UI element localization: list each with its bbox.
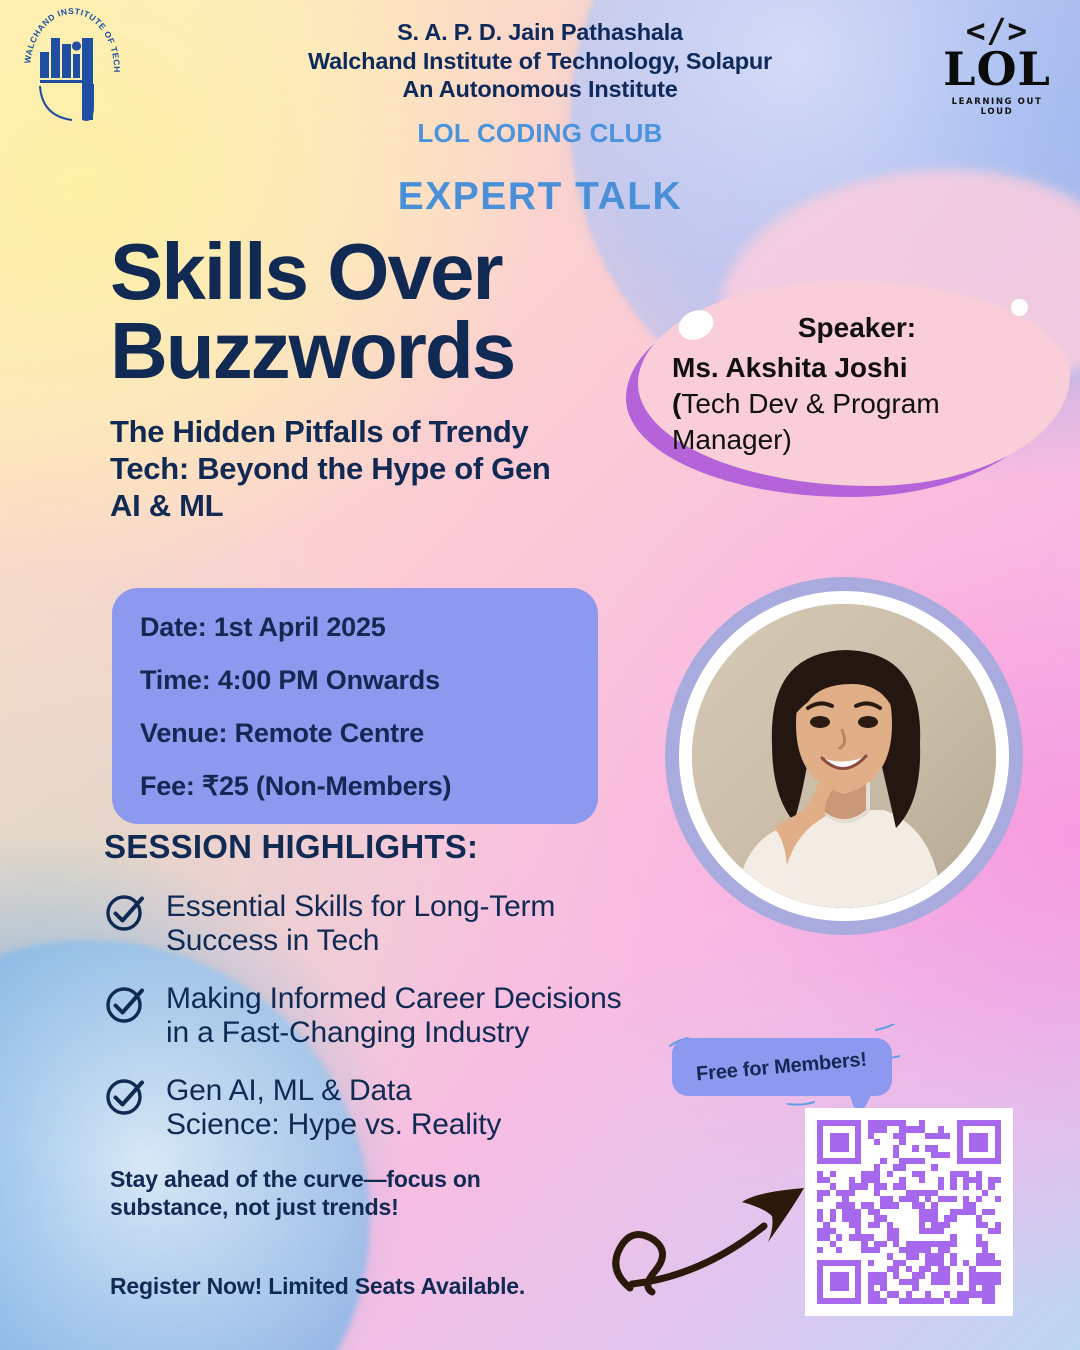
list-item: Essential Skills for Long-Term Success i… bbox=[104, 890, 684, 957]
speaker-role: (Tech Dev & Program Manager) bbox=[672, 386, 1042, 457]
institution-line-1: S. A. P. D. Jain Pathashala bbox=[0, 18, 1080, 47]
session-highlights: SESSION HIGHLIGHTS: Essential Skills for… bbox=[104, 828, 684, 1167]
speaker-heading: Speaker: bbox=[672, 310, 1042, 347]
event-subtitle: The Hidden Pitfalls of Trendy Tech: Beyo… bbox=[110, 414, 580, 524]
qr-module bbox=[995, 1298, 1001, 1304]
event-poster: WALCHAND INSTITUTE OF TECHNOLOGY </> LOL… bbox=[0, 0, 1080, 1350]
qr-modules bbox=[817, 1120, 1001, 1304]
speaker-role-text: Tech Dev & Program Manager) bbox=[672, 388, 940, 454]
curved-arrow-icon bbox=[608, 1180, 818, 1310]
speaker-role-paren: ( bbox=[672, 388, 681, 419]
list-item: Making Informed Career Decisions in a Fa… bbox=[104, 982, 684, 1049]
speaker-name: Ms. Akshita Joshi bbox=[672, 349, 1042, 387]
club-name: LOL CODING CLUB bbox=[0, 118, 1080, 149]
avatar bbox=[692, 604, 996, 908]
bubble-body: Free for Members! bbox=[672, 1038, 892, 1096]
event-kicker: EXPERT TALK bbox=[0, 175, 1080, 219]
speaker-card: Speaker: Ms. Akshita Joshi (Tech Dev & P… bbox=[620, 278, 1070, 508]
highlight-text: Gen AI, ML & Data Science: Hype vs. Real… bbox=[166, 1074, 501, 1141]
check-circle-icon bbox=[104, 1075, 146, 1117]
event-title-line-1: Skills Over bbox=[110, 232, 690, 311]
closing-block: Stay ahead of the curve—focus on substan… bbox=[110, 1166, 670, 1301]
session-highlights-title: SESSION HIGHLIGHTS: bbox=[104, 828, 684, 866]
register-call-to-action: Register Now! Limited Seats Available. bbox=[110, 1273, 670, 1301]
highlight-text: Making Informed Career Decisions in a Fa… bbox=[166, 982, 621, 1049]
speaker-text-block: Speaker: Ms. Akshita Joshi (Tech Dev & P… bbox=[672, 310, 1042, 457]
event-title-line-2: Buzzwords bbox=[110, 311, 690, 390]
closing-tagline: Stay ahead of the curve—focus on substan… bbox=[110, 1166, 670, 1221]
speaker-photo-ring bbox=[665, 577, 1023, 935]
event-venue: Venue: Remote Centre bbox=[140, 720, 570, 747]
event-details-card: Date: 1st April 2025 Time: 4:00 PM Onwar… bbox=[112, 588, 598, 824]
event-date: Date: 1st April 2025 bbox=[140, 614, 570, 641]
event-time: Time: 4:00 PM Onwards bbox=[140, 667, 570, 694]
event-fee: Fee: ₹25 (Non-Members) bbox=[140, 773, 570, 800]
highlight-text: Essential Skills for Long-Term Success i… bbox=[166, 890, 555, 957]
check-circle-icon bbox=[104, 983, 146, 1025]
institution-header: S. A. P. D. Jain Pathashala Walchand Ins… bbox=[0, 18, 1080, 149]
institution-line-2: Walchand Institute of Technology, Solapu… bbox=[0, 47, 1080, 76]
bubble-label: Free for Members! bbox=[696, 1048, 868, 1086]
institution-line-3: An Autonomous Institute bbox=[0, 75, 1080, 104]
event-title-block: Skills Over Buzzwords The Hidden Pitfall… bbox=[110, 232, 690, 524]
check-circle-icon bbox=[104, 891, 146, 933]
registration-qr-code[interactable] bbox=[805, 1108, 1013, 1316]
list-item: Gen AI, ML & Data Science: Hype vs. Real… bbox=[104, 1074, 684, 1141]
